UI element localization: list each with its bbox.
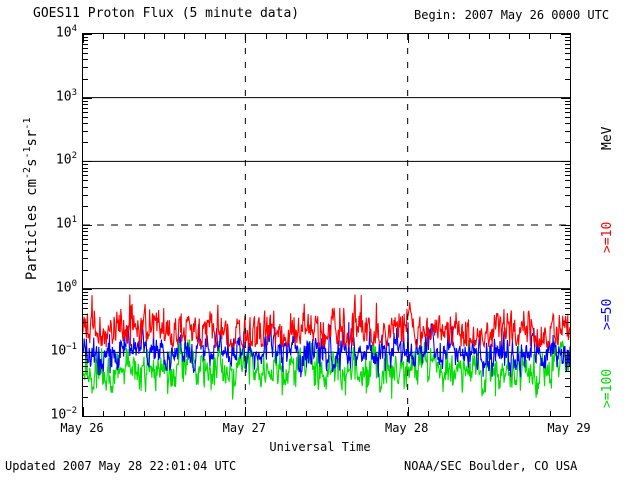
y-minor-tick-right	[565, 117, 570, 118]
y-minor-tick-right	[565, 104, 570, 105]
x-minor-tick	[205, 411, 206, 416]
x-minor-tick	[428, 411, 429, 416]
y-minor-tick	[83, 180, 88, 181]
y-minor-tick-right	[565, 180, 570, 181]
y-minor-tick	[83, 164, 88, 165]
y-minor-tick	[83, 295, 88, 296]
y-minor-tick	[83, 48, 88, 49]
y-minor-tick	[83, 53, 88, 54]
x-minor-tick	[286, 411, 287, 416]
y-minor-tick-right	[565, 195, 570, 196]
y-major-tick	[83, 161, 92, 162]
y-minor-tick-right	[565, 355, 570, 356]
y-minor-tick-right	[565, 314, 570, 315]
y-minor-tick-right	[565, 175, 570, 176]
y-minor-tick-right	[565, 386, 570, 387]
y-minor-tick	[83, 314, 88, 315]
x-major-tick-top	[245, 34, 246, 43]
x-minor-tick-top	[286, 34, 287, 39]
x-major-tick	[570, 407, 571, 416]
x-minor-tick-top	[225, 34, 226, 39]
x-major-tick-top	[83, 34, 84, 43]
y-tick-label: 102	[35, 151, 77, 167]
y-minor-tick-right	[565, 295, 570, 296]
y-minor-tick	[83, 378, 88, 379]
y-minor-tick	[83, 270, 88, 271]
x-minor-tick	[529, 411, 530, 416]
mev-unit-label: MeV	[600, 127, 615, 150]
x-minor-tick	[469, 411, 470, 416]
x-minor-tick	[367, 411, 368, 416]
legend-ge100-label: >=100	[600, 369, 615, 408]
y-major-tick-right	[561, 352, 570, 353]
y-tick-label: 101	[35, 215, 77, 231]
x-minor-tick	[164, 411, 165, 416]
x-minor-tick-top	[387, 34, 388, 39]
y-minor-tick	[83, 79, 88, 80]
y-minor-tick	[83, 250, 88, 251]
y-minor-tick	[83, 231, 88, 232]
trace-ge10	[83, 294, 570, 347]
y-minor-tick-right	[565, 171, 570, 172]
y-minor-tick-right	[565, 359, 570, 360]
y-minor-tick-right	[565, 101, 570, 102]
x-minor-tick-top	[306, 34, 307, 39]
y-minor-tick	[83, 355, 88, 356]
y-minor-tick	[83, 44, 88, 45]
y-minor-tick-right	[565, 206, 570, 207]
y-minor-tick	[83, 187, 88, 188]
x-minor-tick-top	[205, 34, 206, 39]
x-minor-tick	[387, 411, 388, 416]
x-minor-tick-top	[367, 34, 368, 39]
y-tick-label: 104	[35, 24, 77, 40]
begin-time-label: Begin: 2007 May 26 0000 UTC	[414, 8, 609, 22]
y-major-tick-right	[561, 34, 570, 35]
y-minor-tick	[83, 112, 88, 113]
x-minor-tick-top	[550, 34, 551, 39]
y-major-tick-right	[561, 289, 570, 290]
x-minor-tick	[225, 411, 226, 416]
y-minor-tick	[83, 258, 88, 259]
y-minor-tick	[83, 206, 88, 207]
y-minor-tick-right	[565, 322, 570, 323]
x-tick-label: May 28	[371, 421, 443, 435]
y-minor-tick	[83, 362, 88, 363]
y-minor-tick-right	[565, 362, 570, 363]
y-minor-tick	[83, 101, 88, 102]
y-minor-tick-right	[565, 371, 570, 372]
y-major-tick	[83, 289, 92, 290]
y-major-tick	[83, 352, 92, 353]
y-minor-tick-right	[565, 44, 570, 45]
y-minor-tick	[83, 131, 88, 132]
y-minor-tick-right	[565, 108, 570, 109]
y-major-tick-right	[561, 98, 570, 99]
y-tick-label: 10−2	[35, 406, 77, 422]
x-minor-tick	[509, 411, 510, 416]
y-minor-tick	[83, 322, 88, 323]
x-minor-tick-top	[428, 34, 429, 39]
y-major-tick-right	[561, 225, 570, 226]
x-major-tick	[245, 407, 246, 416]
y-minor-tick	[83, 104, 88, 105]
y-minor-tick-right	[565, 366, 570, 367]
x-minor-tick	[103, 411, 104, 416]
y-minor-tick-right	[565, 397, 570, 398]
y-minor-tick-right	[565, 378, 570, 379]
y-tick-label: 100	[35, 279, 77, 295]
x-minor-tick	[306, 411, 307, 416]
y-minor-tick-right	[565, 168, 570, 169]
x-minor-tick	[144, 411, 145, 416]
y-minor-tick	[83, 239, 88, 240]
x-minor-tick-top	[529, 34, 530, 39]
x-minor-tick-top	[144, 34, 145, 39]
y-minor-tick-right	[565, 303, 570, 304]
plot-area	[82, 33, 571, 417]
x-tick-label: May 27	[208, 421, 280, 435]
y-minor-tick	[83, 195, 88, 196]
y-minor-tick	[83, 371, 88, 372]
x-axis-title: Universal Time	[0, 440, 640, 454]
x-minor-tick-top	[327, 34, 328, 39]
x-major-tick-top	[408, 34, 409, 43]
y-minor-tick	[83, 333, 88, 334]
y-minor-tick	[83, 117, 88, 118]
y-minor-tick-right	[565, 67, 570, 68]
x-minor-tick	[489, 411, 490, 416]
y-minor-tick	[83, 397, 88, 398]
x-minor-tick-top	[347, 34, 348, 39]
y-minor-tick-right	[565, 53, 570, 54]
y-minor-tick-right	[565, 299, 570, 300]
y-tick-label: 103	[35, 88, 77, 104]
x-tick-label: May 26	[46, 421, 118, 435]
y-minor-tick-right	[565, 79, 570, 80]
y-minor-tick-right	[565, 164, 570, 165]
y-minor-tick-right	[565, 231, 570, 232]
y-major-tick	[83, 416, 92, 417]
x-minor-tick-top	[266, 34, 267, 39]
y-minor-tick	[83, 308, 88, 309]
y-major-tick-right	[561, 161, 570, 162]
y-minor-tick-right	[565, 59, 570, 60]
y-minor-tick-right	[565, 270, 570, 271]
y-minor-tick	[83, 59, 88, 60]
x-minor-tick-top	[164, 34, 165, 39]
y-minor-tick-right	[565, 123, 570, 124]
x-major-tick	[83, 407, 84, 416]
y-minor-tick	[83, 386, 88, 387]
y-minor-tick-right	[565, 142, 570, 143]
y-minor-tick-right	[565, 131, 570, 132]
x-minor-tick-top	[448, 34, 449, 39]
x-minor-tick	[124, 411, 125, 416]
x-minor-tick	[327, 411, 328, 416]
y-minor-tick-right	[565, 333, 570, 334]
x-minor-tick-top	[509, 34, 510, 39]
y-minor-tick-right	[565, 244, 570, 245]
y-major-tick-right	[561, 416, 570, 417]
y-minor-tick	[83, 235, 88, 236]
y-minor-tick-right	[565, 112, 570, 113]
y-minor-tick-right	[565, 258, 570, 259]
page-title: GOES11 Proton Flux (5 minute data)	[33, 6, 299, 21]
y-minor-tick	[83, 292, 88, 293]
y-minor-tick-right	[565, 48, 570, 49]
y-minor-tick	[83, 108, 88, 109]
y-minor-tick-right	[565, 228, 570, 229]
provider-label: NOAA/SEC Boulder, CO USA	[404, 459, 577, 473]
x-minor-tick	[347, 411, 348, 416]
y-minor-tick-right	[565, 292, 570, 293]
y-major-tick	[83, 98, 92, 99]
x-tick-label: May 29	[533, 421, 605, 435]
y-minor-tick	[83, 171, 88, 172]
y-minor-tick	[83, 123, 88, 124]
x-minor-tick-top	[489, 34, 490, 39]
y-minor-tick-right	[565, 187, 570, 188]
y-minor-tick	[83, 244, 88, 245]
y-minor-tick	[83, 175, 88, 176]
x-major-tick-top	[570, 34, 571, 43]
y-minor-tick-right	[565, 250, 570, 251]
y-minor-tick	[83, 366, 88, 367]
y-minor-tick-right	[565, 235, 570, 236]
x-minor-tick-top	[184, 34, 185, 39]
y-tick-label: 10−1	[35, 342, 77, 358]
y-minor-tick	[83, 299, 88, 300]
x-minor-tick-top	[469, 34, 470, 39]
y-minor-tick	[83, 142, 88, 143]
x-minor-tick-top	[124, 34, 125, 39]
y-axis-title: Particles cm-2s-1sr-1	[22, 74, 40, 324]
legend-ge50-label: >=50	[600, 299, 615, 330]
x-minor-tick-top	[103, 34, 104, 39]
x-minor-tick	[448, 411, 449, 416]
x-minor-tick	[550, 411, 551, 416]
updated-timestamp: Updated 2007 May 28 22:01:04 UTC	[5, 459, 236, 473]
y-minor-tick	[83, 303, 88, 304]
x-major-tick	[408, 407, 409, 416]
y-major-tick	[83, 34, 92, 35]
y-minor-tick	[83, 228, 88, 229]
y-major-tick	[83, 225, 92, 226]
y-minor-tick-right	[565, 239, 570, 240]
y-minor-tick	[83, 168, 88, 169]
legend-ge10-label: >=10	[600, 222, 615, 253]
y-minor-tick	[83, 67, 88, 68]
flux-traces	[83, 34, 570, 416]
x-minor-tick	[266, 411, 267, 416]
y-minor-tick	[83, 359, 88, 360]
x-minor-tick	[184, 411, 185, 416]
y-minor-tick-right	[565, 308, 570, 309]
